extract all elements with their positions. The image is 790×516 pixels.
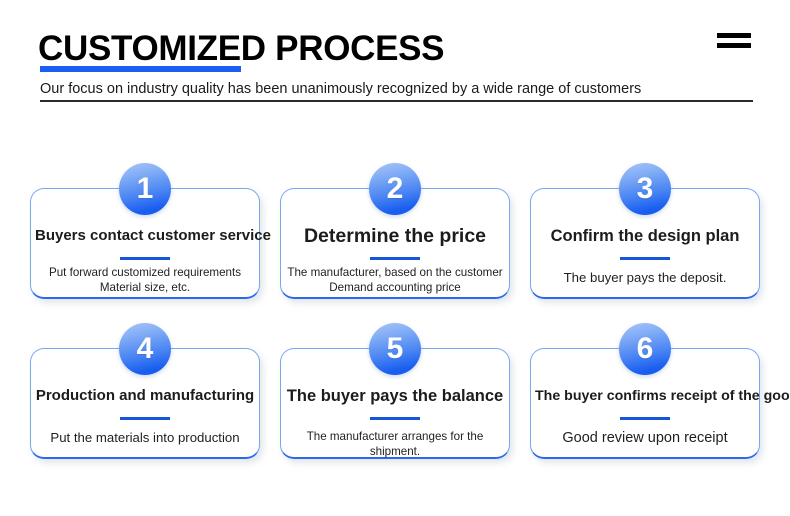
page-title: CUSTOMIZED PROCESS [38,28,444,70]
step-title: Buyers contact customer service [35,225,255,247]
step-description: Put forward customized requirementsMater… [36,265,254,295]
header-divider-rule [40,100,753,102]
process-step-card-2[interactable]: 2Determine the priceThe manufacturer, ba… [280,188,510,299]
step-description-line: Material size, etc. [36,280,254,295]
step-description-line: Put the materials into production [36,429,254,446]
step-description-line: Put forward customized requirements [36,265,254,280]
process-step-card-5[interactable]: 5The buyer pays the balanceThe manufactu… [280,348,510,459]
process-step-card-4[interactable]: 4Production and manufacturingPut the mat… [30,348,260,459]
step-title: Production and manufacturing [35,385,255,407]
step-divider [120,257,170,260]
step-divider [370,257,420,260]
step-description-line: The buyer pays the deposit. [536,269,754,286]
step-number-badge: 1 [119,163,171,215]
hamburger-menu-icon[interactable] [717,30,751,50]
process-step-grid: 1Buyers contact customer servicePut forw… [0,122,790,516]
hamburger-bar-top [717,33,751,38]
step-description: The manufacturer arranges for the shipme… [286,429,504,459]
step-description: Put the materials into production [36,429,254,446]
step-description-line: The manufacturer arranges for the shipme… [286,429,504,459]
step-description-line: Demand accounting price [286,280,504,295]
step-number-badge: 4 [119,323,171,375]
step-number-badge: 6 [619,323,671,375]
step-title: Determine the price [285,225,505,247]
step-number-badge: 2 [369,163,421,215]
step-divider [370,417,420,420]
page-subtitle: Our focus on industry quality has been u… [40,79,641,99]
title-underline-accent [40,66,241,72]
step-description: The buyer pays the deposit. [536,269,754,286]
step-number-badge: 3 [619,163,671,215]
step-description: Good review upon receipt [536,429,754,447]
step-description: The manufacturer, based on the customerD… [286,265,504,295]
step-divider [620,417,670,420]
step-description-line: The manufacturer, based on the customer [286,265,504,280]
step-title: Confirm the design plan [535,225,755,247]
step-title: The buyer pays the balance [285,385,505,407]
process-step-card-1[interactable]: 1Buyers contact customer servicePut forw… [30,188,260,299]
process-step-card-3[interactable]: 3Confirm the design planThe buyer pays t… [530,188,760,299]
page-header: CUSTOMIZED PROCESS Our focus on industry… [0,0,790,112]
hamburger-bar-bottom [717,43,751,48]
step-title: The buyer confirms receipt of the goods [535,385,755,407]
step-number-badge: 5 [369,323,421,375]
step-divider [120,417,170,420]
step-divider [620,257,670,260]
process-step-card-6[interactable]: 6The buyer confirms receipt of the goods… [530,348,760,459]
step-description-line: Good review upon receipt [536,429,754,447]
